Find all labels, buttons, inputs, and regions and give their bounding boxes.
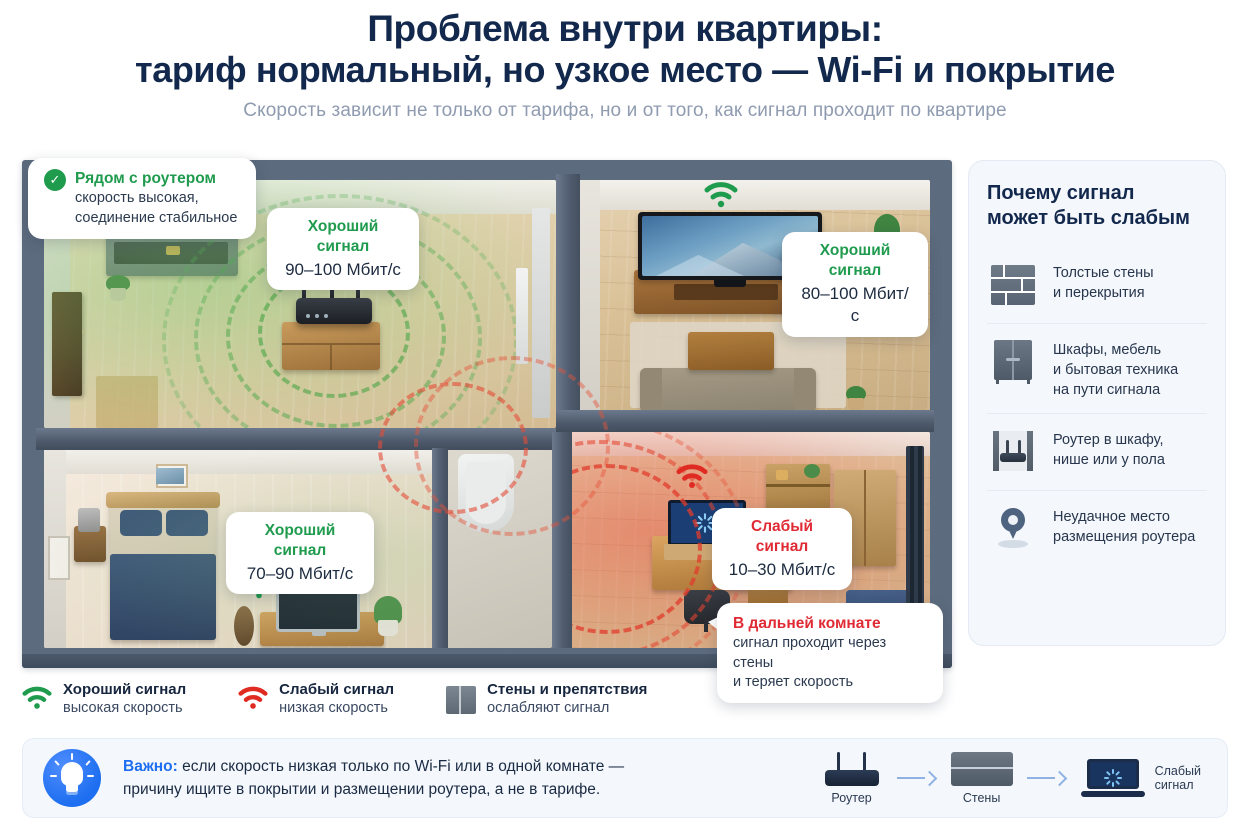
panel-item-3-line2: нише или у пола	[1053, 450, 1165, 470]
speed-label-living-title: Хороший сигнал	[798, 241, 912, 282]
stage: 4K	[0, 148, 1250, 668]
router-in-niche-icon	[987, 427, 1039, 477]
signal-flow-diagram: Роутер Стены	[821, 752, 1201, 805]
check-circle-icon: ✓	[44, 169, 66, 191]
laptop-icon	[1081, 759, 1145, 797]
speed-label-living: Хороший сигнал 80–100 Мбит/с	[782, 232, 928, 337]
legend-1-title: Хороший сигнал	[63, 680, 186, 700]
panel-item-4-line1: Неудачное место	[1053, 507, 1195, 527]
shelf-plant	[804, 464, 820, 478]
panel-item-3-line1: Роутер в шкафу,	[1053, 430, 1165, 450]
panel-title-line1: Почему сигнал	[987, 181, 1207, 206]
loading-spinner-icon	[1104, 769, 1122, 787]
callout-far-room: В дальней комнате сигнал проходит через …	[717, 603, 943, 703]
panel-item-2-line2: и бытовая техника	[1053, 360, 1178, 380]
page-title-line2: тариф нормальный, но узкое место — Wi-Fi…	[0, 50, 1250, 91]
speed-label-hall-value: 90–100 Мбит/с	[283, 259, 403, 281]
entrance-door	[52, 292, 82, 396]
speed-label-bedroom: Хороший сигнал 70–90 Мбит/с	[226, 512, 374, 594]
panel-title: Почему сигнал может быть слабым	[987, 181, 1207, 231]
panel-item-router-niche: Роутер в шкафу, нише или у пола	[987, 413, 1207, 490]
map-pin-icon	[987, 504, 1039, 554]
panel-item-bad-placement: Неудачное место размещения роутера	[987, 490, 1207, 567]
speed-label-far-room: Слабый сигнал 10–30 Мбит/с	[712, 508, 852, 590]
flow-router-label: Роутер	[831, 791, 871, 805]
panel-item-thick-walls: Толстые стены и перекрытия	[987, 247, 1207, 323]
legend-item-walls: Стены и препятствия ослабляют сигнал	[446, 680, 647, 718]
header: Проблема внутри квартиры: тариф нормальн…	[0, 0, 1250, 122]
page-subtitle: Скорость зависит не только от тарифа, но…	[0, 100, 1250, 122]
why-weak-panel: Почему сигнал может быть слабым Толстые …	[968, 160, 1226, 646]
speed-label-hall: Хороший сигнал 90–100 Мбит/с	[267, 208, 419, 290]
callout-far-room-title: В дальней комнате	[733, 614, 927, 634]
flow-router: Роутер	[821, 752, 883, 805]
legend-item-good-signal: Хороший сигнал высокая скорость	[22, 680, 186, 718]
arrow-right-icon-1	[897, 771, 937, 785]
wifi-icon-living	[704, 182, 738, 213]
callout-near-router-title: Рядом с роутером	[75, 169, 237, 189]
panel-item-1-line1: Толстые стены	[1053, 263, 1154, 283]
legend-2-sub: низкая скорость	[279, 699, 394, 718]
speed-label-hall-title: Хороший сигнал	[283, 217, 403, 258]
panel-title-line2: может быть слабым	[987, 206, 1207, 231]
legend-3-title: Стены и препятствия	[487, 680, 647, 700]
flow-laptop: Слабый сигнал	[1081, 759, 1201, 797]
apartment-floorplan: 4K	[22, 160, 952, 668]
arrow-right-icon-2	[1027, 771, 1067, 785]
panel-item-2-line3: на пути сигнала	[1053, 380, 1178, 400]
callout-near-router-line1: скорость высокая,	[75, 189, 237, 208]
panel-item-cabinets: Шкафы, мебель и бытовая техника на пути …	[987, 323, 1207, 413]
legend-2-title: Слабый сигнал	[279, 680, 394, 700]
callout-far-room-line2: и теряет скорость	[733, 673, 927, 692]
important-note-bar: Важно: если скорость низкая только по Wi…	[22, 738, 1228, 818]
router-icon	[821, 752, 883, 786]
flow-laptop-label-line2: сигнал	[1155, 778, 1201, 792]
page-title-line1: Проблема внутри квартиры:	[0, 8, 1250, 50]
wall-horizontal-right	[556, 410, 934, 432]
important-line2: причину ищите в покрытии и размещении ро…	[123, 778, 624, 801]
infographic-page: Проблема внутри квартиры: тариф нормальн…	[0, 0, 1250, 833]
legend: Хороший сигнал высокая скорость Слабый с…	[22, 672, 722, 726]
legend-3-sub: ослабляют сигнал	[487, 699, 647, 718]
flow-walls-label: Стены	[963, 791, 1000, 805]
flow-laptop-label-line1: Слабый	[1155, 764, 1201, 778]
speed-label-bedroom-title: Хороший сигнал	[242, 521, 358, 562]
speed-label-living-value: 80–100 Мбит/с	[798, 283, 912, 328]
signal-leak-arc-2	[414, 356, 610, 536]
panel-item-4-line2: размещения роутера	[1053, 527, 1195, 547]
coffee-table	[688, 332, 774, 370]
sofa	[640, 368, 816, 412]
important-label: Важно:	[123, 758, 178, 775]
wifi-red-icon	[238, 686, 268, 712]
legend-item-weak-signal: Слабый сигнал низкая скорость	[238, 680, 394, 718]
legend-1-sub: высокая скорость	[63, 699, 186, 718]
wifi-icon-weak-office	[676, 464, 708, 494]
hall-rug	[96, 376, 158, 428]
cabinet-icon	[987, 337, 1039, 387]
callout-near-router-line2: соединение стабильное	[75, 209, 237, 228]
panel-item-1-line2: и перекрытия	[1053, 283, 1154, 303]
important-line1: если скорость низкая только по Wi-Fi или…	[178, 758, 624, 775]
important-note-text: Важно: если скорость низкая только по Wi…	[123, 755, 624, 802]
speed-label-bedroom-value: 70–90 Мбит/с	[242, 563, 358, 585]
lightbulb-icon	[43, 749, 101, 807]
speed-label-far-value: 10–30 Мбит/с	[728, 559, 836, 581]
speed-label-far-title: Слабый сигнал	[728, 517, 836, 558]
wifi-green-icon	[22, 686, 52, 712]
callout-near-router: ✓ Рядом с роутером скорость высокая, сое…	[28, 158, 256, 239]
callout-far-room-line1: сигнал проходит через стены	[733, 634, 927, 672]
wall-block-icon	[446, 686, 476, 712]
thick-walls-icon	[987, 260, 1039, 310]
panel-item-2-line1: Шкафы, мебель	[1053, 340, 1178, 360]
flow-walls: Стены	[951, 752, 1013, 805]
wall-icon	[951, 752, 1013, 786]
